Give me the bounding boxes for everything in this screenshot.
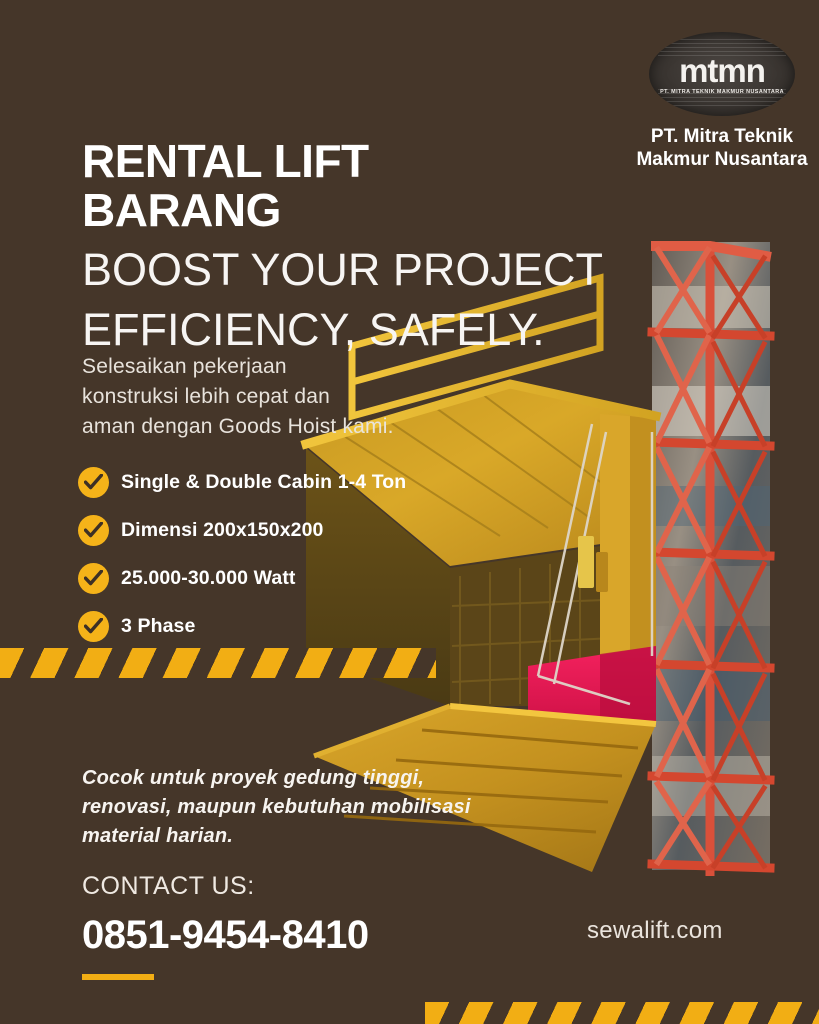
check-badge-icon: [78, 515, 109, 546]
headline-strong-line-2: BARANG: [82, 186, 642, 235]
lead-line-1: Selesaikan pekerjaan: [82, 352, 422, 382]
logo-wordmark: mtmn: [679, 54, 765, 87]
hazard-stripe-band-middle: [0, 648, 436, 678]
feature-item: Single & Double Cabin 1-4 Ton: [78, 458, 498, 506]
watermark-arc-left: ISFACTI: [538, 408, 606, 513]
contact-block: CONTACT US: 0851-9454-8410: [82, 872, 369, 980]
callout-line-3: material harian.: [82, 822, 562, 851]
feature-label: Dimensi 200x150x200: [121, 519, 323, 542]
company-name: PT. Mitra Teknik Makmur Nusantara: [632, 126, 812, 172]
brand-logo-block: mtmn PT. MITRA TEKNIK MAKMUR NUSANTARA P…: [632, 32, 812, 172]
feature-label: 25.000-30.000 Watt: [121, 567, 296, 590]
feature-item: 3 Phase: [78, 602, 498, 650]
check-badge-icon: [78, 611, 109, 642]
website-url[interactable]: sewalift.com: [587, 917, 723, 945]
feature-label: Single & Double Cabin 1-4 Ton: [121, 471, 406, 494]
callout-line-2: renovasi, maupun kebutuhan mobilisasi: [82, 793, 562, 822]
callout-paragraph: Cocok untuk proyek gedung tinggi, renova…: [82, 764, 562, 851]
mtmn-oval-logo-icon: mtmn PT. MITRA TEKNIK MAKMUR NUSANTARA: [649, 32, 795, 116]
headline-light-line-1: BOOST YOUR PROJECT: [82, 245, 642, 295]
contact-phone-number[interactable]: 0851-9454-8410: [82, 913, 369, 958]
callout-line-1: Cocok untuk proyek gedung tinggi,: [82, 764, 562, 793]
lead-line-3: aman dengan Goods Hoist kami.: [82, 412, 422, 442]
feature-label: 3 Phase: [121, 615, 195, 638]
lead-paragraph: Selesaikan pekerjaan konstruksi lebih ce…: [82, 352, 422, 441]
headline-block: RENTAL LIFT BARANG BOOST YOUR PROJECT EF…: [82, 137, 642, 354]
poster-canvas: ISFACTI ANT: [0, 0, 819, 1024]
accent-rule: [82, 974, 154, 980]
check-badge-icon: [78, 563, 109, 594]
feature-item: 25.000-30.000 Watt: [78, 554, 498, 602]
logo-wordmark-subtitle: PT. MITRA TEKNIK MAKMUR NUSANTARA: [660, 89, 784, 95]
hazard-stripe-band-bottom: [425, 1002, 819, 1024]
headline-light-line-2: EFFICIENCY, SAFELY.: [82, 305, 642, 355]
company-name-line-2: Makmur Nusantara: [632, 149, 812, 172]
lead-line-2: konstruksi lebih cepat dan: [82, 382, 422, 412]
check-badge-icon: [78, 467, 109, 498]
feature-item: Dimensi 200x150x200: [78, 506, 498, 554]
headline-strong-line-1: RENTAL LIFT: [82, 137, 642, 186]
feature-list: Single & Double Cabin 1-4 Ton Dimensi 20…: [78, 458, 498, 650]
contact-label: CONTACT US:: [82, 872, 369, 901]
company-name-line-1: PT. Mitra Teknik: [632, 126, 812, 149]
